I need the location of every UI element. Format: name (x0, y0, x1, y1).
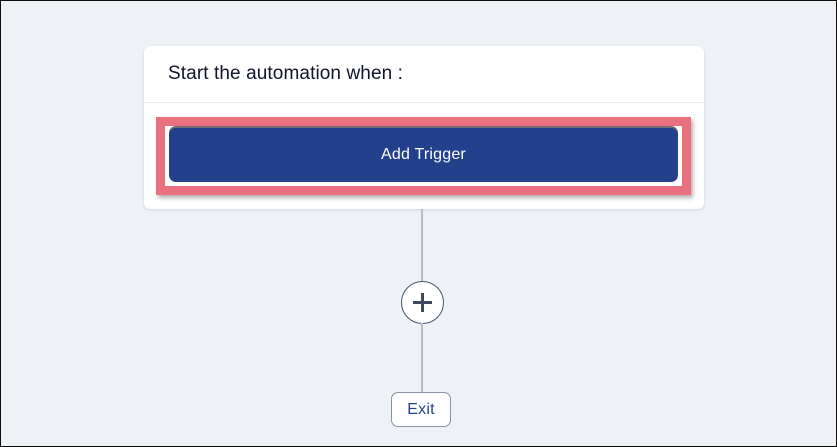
automation-builder-canvas: Start the automation when : Add Trigger … (0, 0, 837, 447)
plus-icon (413, 293, 432, 312)
add-trigger-button[interactable]: Add Trigger (169, 128, 678, 182)
trigger-card-body: Add Trigger (144, 103, 704, 208)
trigger-card-title: Start the automation when : (168, 63, 403, 85)
add-step-button[interactable] (401, 281, 444, 324)
exit-node[interactable]: Exit (391, 392, 451, 427)
add-trigger-button-label: Add Trigger (381, 146, 466, 164)
exit-node-label: Exit (407, 401, 434, 419)
add-trigger-highlight-inner: Add Trigger (165, 126, 682, 186)
connector-line-trigger-to-add-step (421, 209, 423, 281)
trigger-card-header: Start the automation when : (144, 46, 704, 103)
trigger-card: Start the automation when : Add Trigger (144, 46, 704, 209)
connector-line-add-step-to-exit (421, 323, 423, 393)
add-trigger-highlight-annotation: Add Trigger (156, 117, 691, 195)
